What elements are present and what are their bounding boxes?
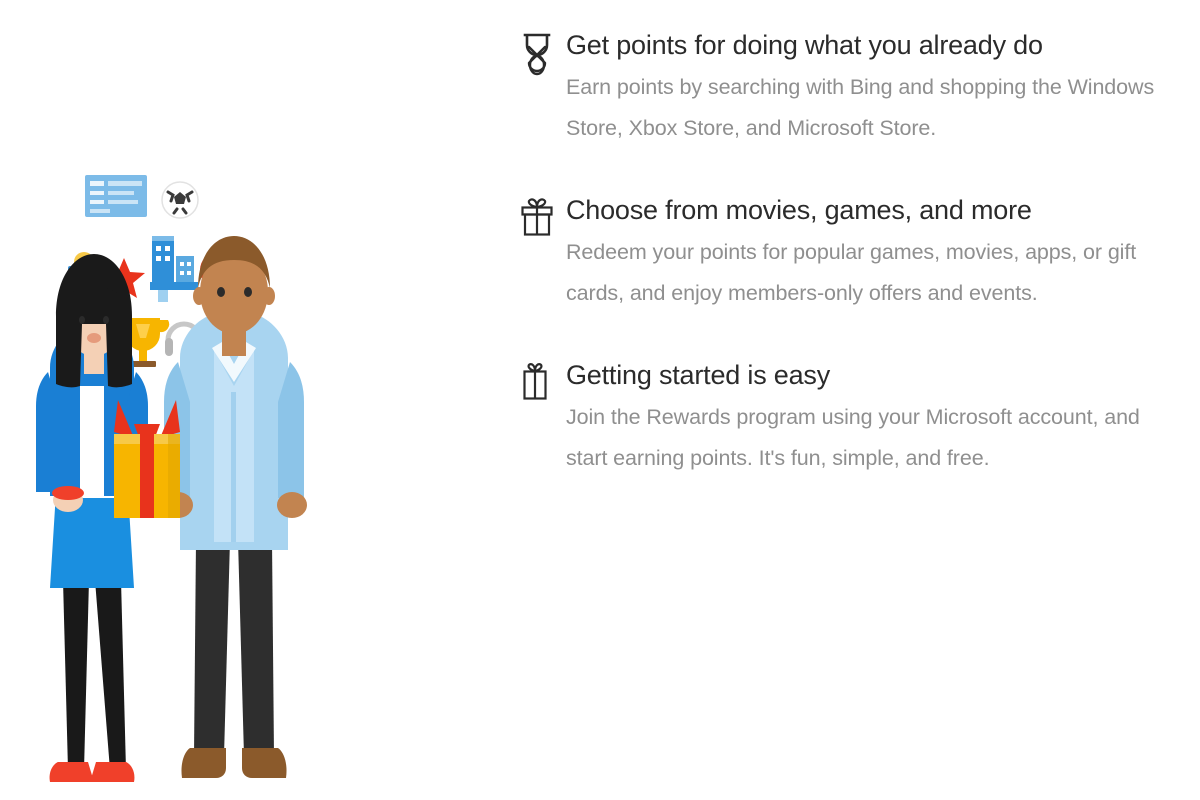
feature-item-points: Get points for doing what you already do… bbox=[520, 28, 1180, 149]
features-pane: Get points for doing what you already do… bbox=[500, 0, 1200, 800]
feature-title-redeem: Choose from movies, games, and more bbox=[566, 193, 1176, 227]
feature-description-redeem: Redeem your points for popular games, mo… bbox=[566, 232, 1166, 314]
rewards-onboarding-page: Get points for doing what you already do… bbox=[0, 0, 1200, 800]
feature-title-getting-started: Getting started is easy bbox=[566, 358, 1176, 392]
illustration-pane bbox=[0, 0, 500, 800]
feature-item-getting-started: Getting started is easy Join the Rewards… bbox=[520, 358, 1180, 479]
feature-description-getting-started: Join the Rewards program using your Micr… bbox=[566, 397, 1166, 479]
rewards-hero-illustration bbox=[0, 0, 500, 800]
medal-icon bbox=[520, 28, 566, 80]
feature-title-points: Get points for doing what you already do bbox=[566, 28, 1176, 62]
feature-description-points: Earn points by searching with Bing and s… bbox=[566, 67, 1166, 149]
feature-body-points: Get points for doing what you already do… bbox=[566, 28, 1180, 149]
gift-box-icon bbox=[520, 193, 566, 245]
man-figure bbox=[163, 236, 307, 778]
gift-box-small-icon bbox=[520, 358, 566, 410]
card-icon bbox=[85, 175, 147, 217]
feature-body-getting-started: Getting started is easy Join the Rewards… bbox=[566, 358, 1180, 479]
soccer-ball-icon bbox=[162, 182, 198, 218]
feature-item-redeem: Choose from movies, games, and more Rede… bbox=[520, 193, 1180, 314]
store-icon bbox=[150, 236, 198, 302]
feature-body-redeem: Choose from movies, games, and more Rede… bbox=[566, 193, 1180, 314]
